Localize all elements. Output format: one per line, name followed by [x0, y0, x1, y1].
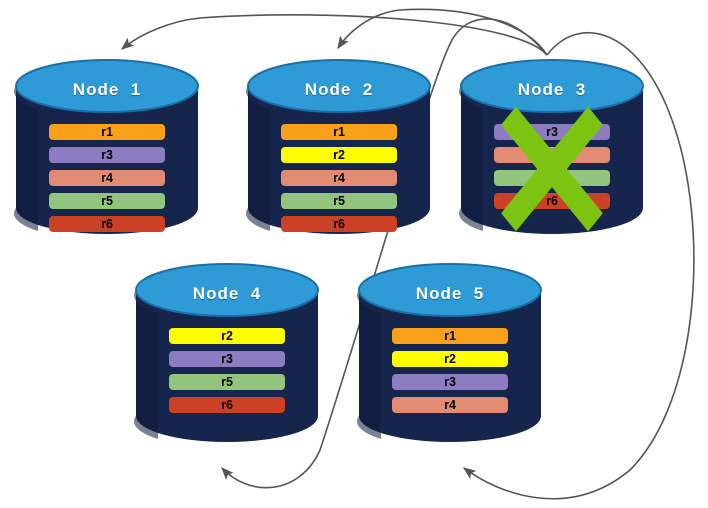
node-4-label: Node 4	[134, 284, 320, 304]
node-3-records: r3r4r5r6	[459, 124, 645, 216]
node-1-records: r1r3r4r5r6	[14, 124, 200, 239]
node-4-record-r6[interactable]: r6	[169, 397, 285, 413]
node-2-record-r2[interactable]: r2	[281, 147, 397, 163]
node-4-record-r5[interactable]: r5	[169, 374, 285, 390]
node-5-record-r2[interactable]: r2	[392, 351, 508, 367]
node-1-record-r3[interactable]: r3	[49, 147, 165, 163]
node-1-label: Node 1	[14, 80, 200, 100]
node-4-record-r3[interactable]: r3	[169, 351, 285, 367]
node-5[interactable]: Node 5r1r2r3r4	[357, 262, 543, 444]
node-4-record-r2[interactable]: r2	[169, 328, 285, 344]
node-4-records: r2r3r5r6	[134, 328, 320, 420]
node-1[interactable]: Node 1r1r3r4r5r6	[14, 58, 200, 236]
node-4[interactable]: Node 4r2r3r5r6	[134, 262, 320, 444]
node-2-record-r5[interactable]: r5	[281, 193, 397, 209]
arrow-node3-to-node2	[338, 9, 547, 55]
node-3-record-r6[interactable]: r6	[494, 193, 610, 209]
node-1-record-r6[interactable]: r6	[49, 216, 165, 232]
node-3-record-r4[interactable]: r4	[494, 147, 610, 163]
node-2-records: r1r2r4r5r6	[246, 124, 432, 239]
node-2-record-r6[interactable]: r6	[281, 216, 397, 232]
node-1-record-r1[interactable]: r1	[49, 124, 165, 140]
node-5-record-r4[interactable]: r4	[392, 397, 508, 413]
node-1-record-r4[interactable]: r4	[49, 170, 165, 186]
node-2-record-r1[interactable]: r1	[281, 124, 397, 140]
node-2-record-r4[interactable]: r4	[281, 170, 397, 186]
diagram-canvas: Node 1r1r3r4r5r6Node 2r1r2r4r5r6Node 3r3…	[0, 0, 708, 508]
node-5-record-r3[interactable]: r3	[392, 374, 508, 390]
node-5-label: Node 5	[357, 284, 543, 304]
node-3-record-r3[interactable]: r3	[494, 124, 610, 140]
arrow-node3-to-node1	[122, 15, 547, 55]
node-5-records: r1r2r3r4	[357, 328, 543, 420]
node-3-record-r5[interactable]: r5	[494, 170, 610, 186]
node-3-label: Node 3	[459, 80, 645, 100]
node-2[interactable]: Node 2r1r2r4r5r6	[246, 58, 432, 236]
node-1-record-r5[interactable]: r5	[49, 193, 165, 209]
node-5-record-r1[interactable]: r1	[392, 328, 508, 344]
node-2-label: Node 2	[246, 80, 432, 100]
node-3[interactable]: Node 3r3r4r5r6	[459, 58, 645, 236]
